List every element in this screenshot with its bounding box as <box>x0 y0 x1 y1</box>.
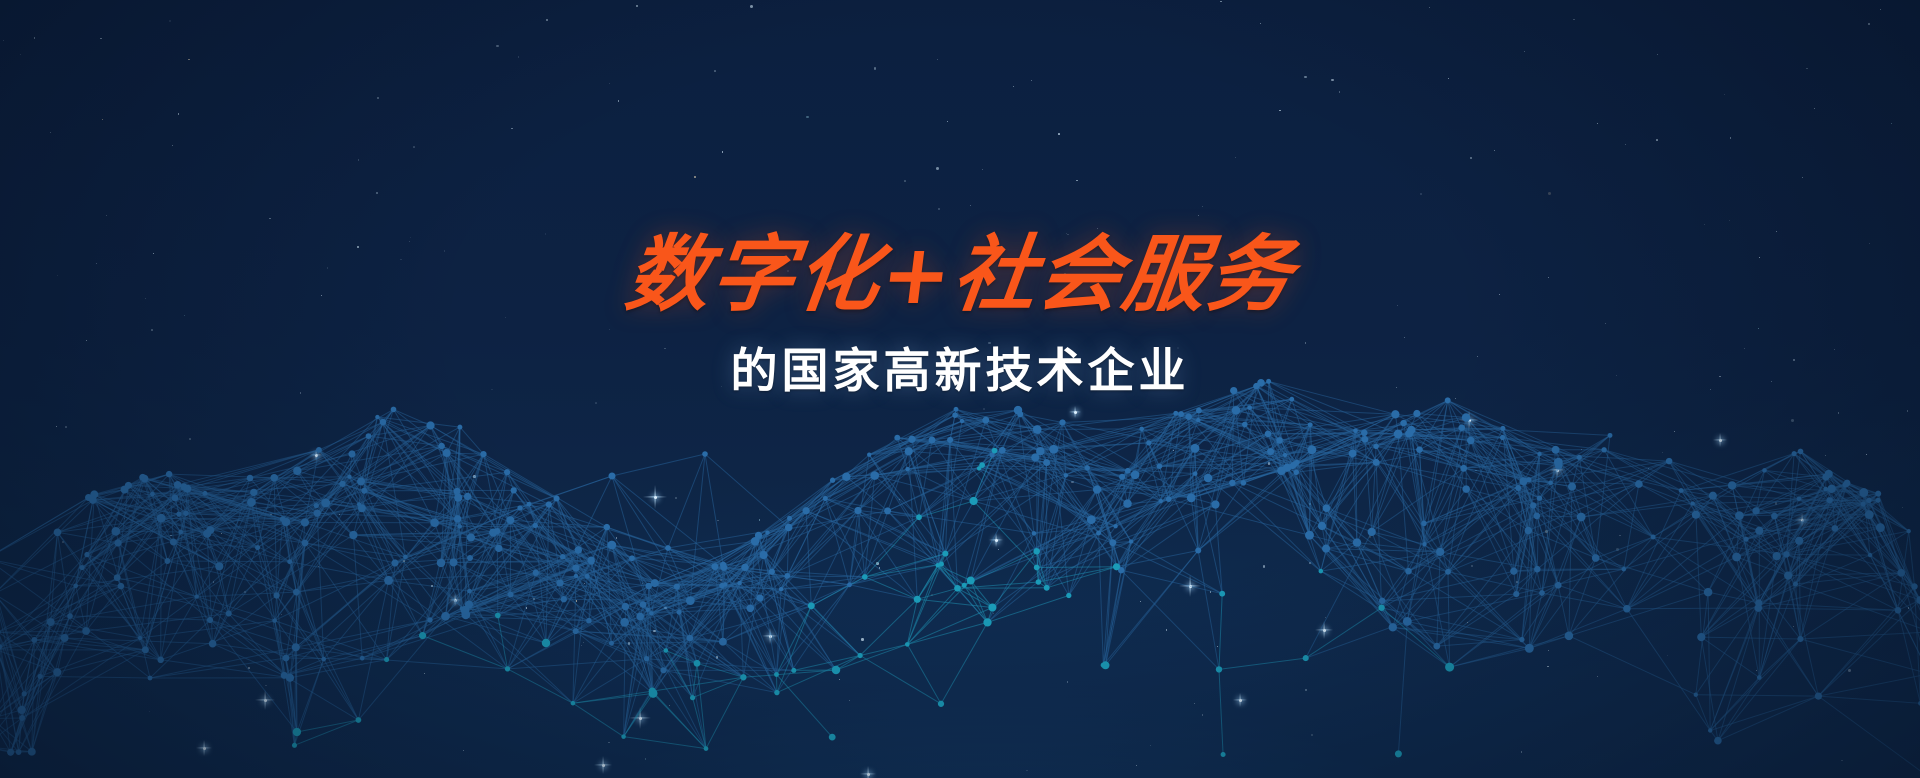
banner-headline: 数字化+社会服务 <box>0 232 1920 318</box>
banner-root: 数字化+社会服务 的国家高新技术企业 <box>0 0 1920 778</box>
network-graphic <box>0 358 1920 778</box>
banner-subtitle: 的国家高新技术企业 <box>0 332 1920 401</box>
banner-copy: 数字化+社会服务 的国家高新技术企业 <box>0 232 1920 401</box>
